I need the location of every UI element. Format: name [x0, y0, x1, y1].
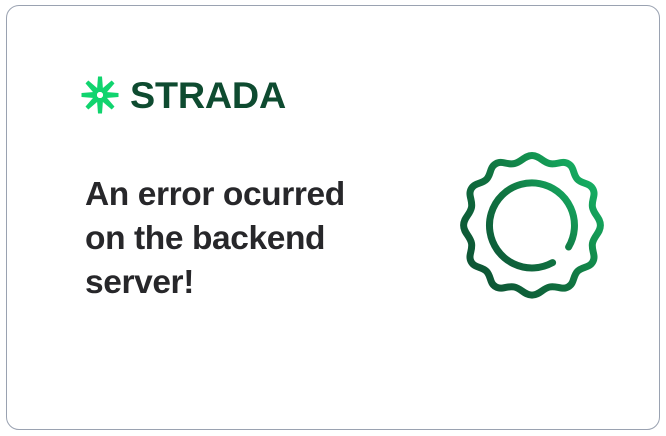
error-message-line: on the backend [85, 217, 385, 261]
error-message: An error ocurred on the backend server! [85, 173, 385, 305]
error-message-line: An error ocurred [85, 173, 385, 217]
brand-logo: STRADA [79, 74, 283, 116]
error-card: STRADA An error ocurred on the backend s… [6, 5, 660, 430]
gear-icon [450, 146, 614, 310]
strada-asterisk-icon [79, 74, 121, 116]
error-message-line: server! [85, 261, 385, 305]
error-page-screen: STRADA An error ocurred on the backend s… [0, 0, 666, 436]
brand-wordmark: STRADA [130, 77, 286, 114]
gear-illustration [450, 146, 614, 310]
